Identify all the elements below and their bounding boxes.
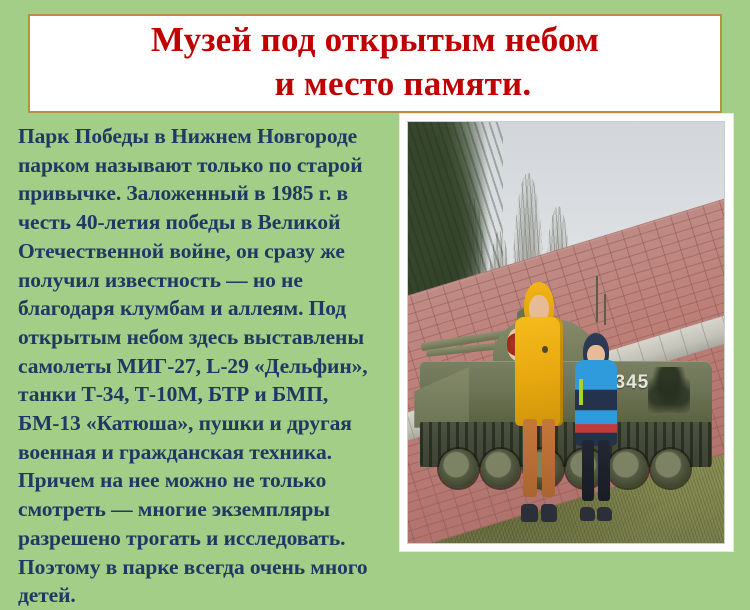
body-text-line: получил известность — но не — [18, 266, 386, 295]
body-text-line: детей. — [18, 581, 386, 610]
body-text-line: привычке. Заложенный в 1985 г. в — [18, 179, 386, 208]
photo-image: 345 — [407, 121, 725, 544]
child-legs — [582, 440, 610, 501]
road-wheel — [439, 449, 478, 488]
body-text-line: открытым небом здесь выставлены — [18, 323, 386, 352]
armoured-vehicle: 345 — [414, 316, 717, 468]
hull-number-text: 345 — [615, 373, 650, 392]
slide-title-line-1: Музей под открытым небом — [151, 18, 599, 62]
body-text-line: Причем на нее можно не только — [18, 466, 386, 495]
body-text-column: Парк Победы в Нижнем Новгороде парком на… — [18, 122, 386, 550]
body-text-line: БМ-13 «Катюша», пушки и другая — [18, 409, 386, 438]
body-text-line: парком называют только по старой — [18, 151, 386, 180]
antenna — [596, 276, 598, 321]
body-text-line: смотреть — многие экземпляры — [18, 495, 386, 524]
body-text-line: военная и гражданская техника. — [18, 438, 386, 467]
antenna — [604, 294, 606, 324]
slide-root: Музей под открытым небом и место памяти.… — [0, 0, 750, 562]
child-blue-jacket — [572, 333, 619, 518]
slide-title-box: Музей под открытым небом и место памяти. — [28, 14, 722, 113]
body-text-line: Парк Победы в Нижнем Новгороде — [18, 122, 386, 151]
jacket-stripe — [579, 379, 583, 405]
child-legs — [523, 419, 555, 497]
body-text-line: самолеты МИГ-27, L-29 «Дельфин», — [18, 352, 386, 381]
slide-title-line-2: и место памяти. — [275, 62, 532, 106]
jacket-torso — [575, 360, 617, 445]
child-shoes — [521, 504, 558, 523]
jacket-badge — [542, 346, 548, 354]
body-text-line: танки Т-34, Т-10М, БТР и БМП, — [18, 380, 386, 409]
body-text-line: разрешено трогать и исследовать. — [18, 524, 386, 553]
child-shoes — [580, 507, 612, 522]
jacket-torso — [515, 317, 562, 425]
child-yellow-jacket — [512, 282, 566, 518]
body-text-line: благодаря клумбам и аллеям. Под — [18, 294, 386, 323]
paratrooper-emblem — [648, 367, 690, 412]
body-text-line: честь 40-летия победы в Великой — [18, 208, 386, 237]
body-text-line: Поэтому в парке всегда очень много — [18, 553, 386, 582]
body-text-line: Отечественной войне, он сразу же — [18, 237, 386, 266]
photo-frame: 345 — [400, 114, 733, 551]
